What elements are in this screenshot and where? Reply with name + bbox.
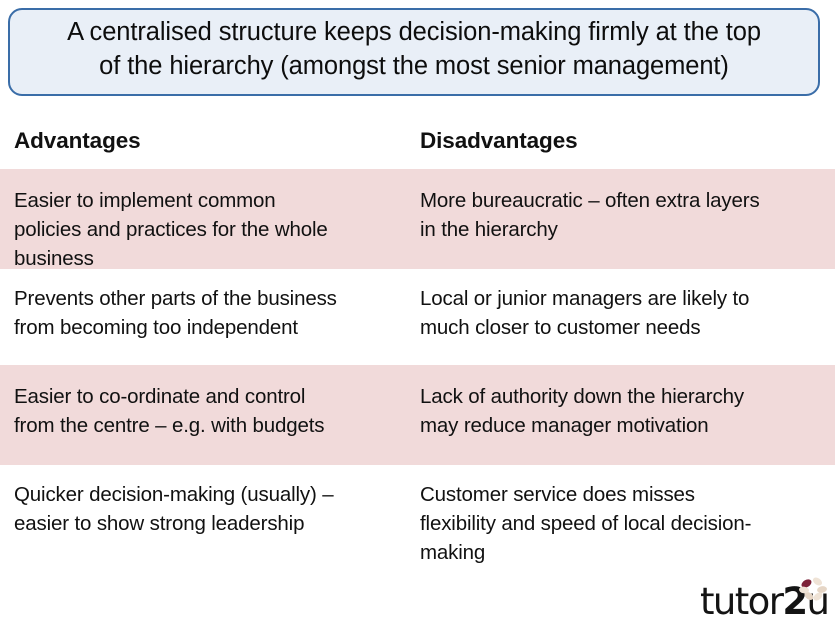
advantage-cell: Easier to co-ordinate and control from t… — [0, 382, 417, 465]
disadvantage-cell: Local or junior managers are likely to m… — [417, 284, 835, 365]
table-row: Quicker decision-making (usually) – easi… — [0, 465, 835, 575]
advantages-disadvantages-table: Advantages Disadvantages Easier to imple… — [0, 112, 835, 575]
table-row: Prevents other parts of the business fro… — [0, 269, 835, 365]
tutor2u-logo: tutor2u — [700, 576, 830, 620]
table-row: Easier to co-ordinate and control from t… — [0, 365, 835, 465]
column-header-advantages: Advantages — [0, 125, 417, 157]
disadvantage-cell: More bureaucratic – often extra layers i… — [417, 186, 835, 269]
header-callout-box: A centralised structure keeps decision-m… — [8, 8, 820, 96]
flower-icon — [798, 576, 828, 604]
disadvantage-cell: Customer service does misses flexibility… — [417, 480, 835, 575]
advantage-cell: Prevents other parts of the business fro… — [0, 284, 417, 365]
advantage-cell: Easier to implement common policies and … — [0, 186, 417, 269]
disadvantage-cell: Lack of authority down the hierarchy may… — [417, 382, 835, 465]
table-row: Easier to implement common policies and … — [0, 169, 835, 269]
logo-text-part1: tutor — [700, 580, 782, 623]
column-header-disadvantages: Disadvantages — [417, 125, 835, 157]
advantage-cell: Quicker decision-making (usually) – easi… — [0, 480, 417, 575]
header-callout-text: A centralised structure keeps decision-m… — [67, 16, 761, 83]
table-header-row: Advantages Disadvantages — [0, 112, 835, 169]
